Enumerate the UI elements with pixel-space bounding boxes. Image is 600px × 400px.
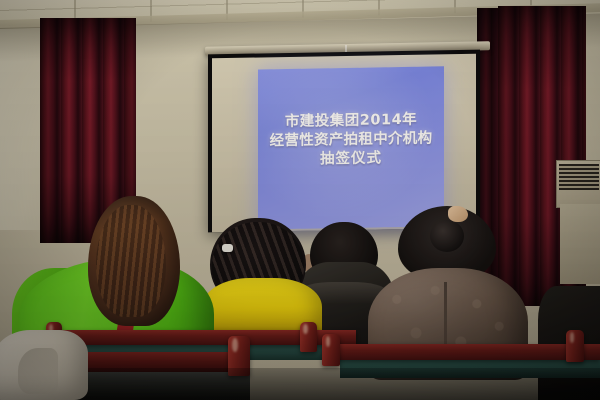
conference-room-photo: 市建投集团2014年 经营性资产拍租中介机构 抽签仪式 [0,0,600,400]
projection-screen-surface: 市建投集团2014年 经营性资产拍租中介机构 抽签仪式 [212,54,476,233]
yellow-jacket-woman-hair-clip [222,244,233,252]
foreground-shadow [0,368,600,400]
bench-row2-post-right [300,322,317,352]
projection-screen-frame: 市建投集团2014年 经营性资产拍租中介机构 抽签仪式 [208,50,480,233]
green-jacket-woman-hair-texture [96,205,166,317]
bench-row3-post-left [322,334,340,366]
slide-line-2: 经营性资产拍租中介机构 [258,129,444,151]
slide-line-3: 抽签仪式 [258,148,444,170]
bench-row3-post-right [566,330,584,362]
projected-slide: 市建投集团2014年 经营性资产拍租中介机构 抽签仪式 [258,66,444,229]
air-conditioner-body [560,204,600,284]
air-conditioner-vents [559,164,599,190]
fur-coat-woman-hair-bun [430,220,464,252]
cream-bag-fold [18,348,58,394]
fur-coat-woman-hair-tie [448,206,468,222]
slide-text-block: 市建投集团2014年 经营性资产拍租中介机构 抽签仪式 [258,110,444,170]
bench-row3-rail [330,344,600,360]
air-conditioner-icon [556,160,600,208]
